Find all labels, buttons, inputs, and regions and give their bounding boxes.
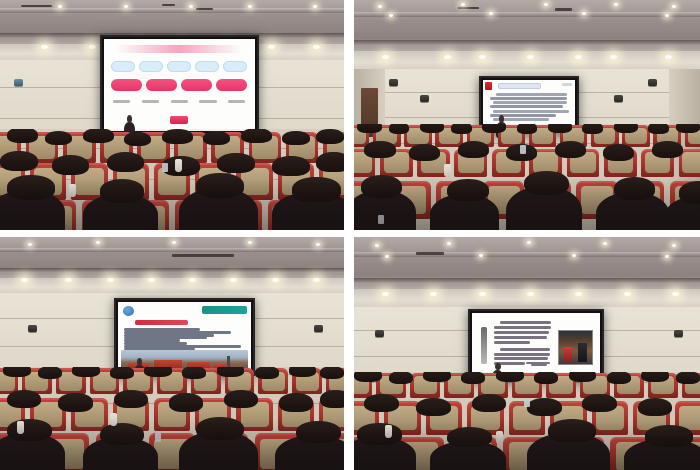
ceiling (0, 237, 344, 293)
panel-bottom-right[interactable] (354, 237, 700, 470)
lecture-hall-scene (0, 0, 344, 230)
slide-caption-row (113, 99, 246, 105)
lecture-hall-scene (354, 237, 700, 470)
water-bottle (444, 164, 451, 177)
wall-speaker-icon (375, 330, 384, 337)
water-bottle (110, 413, 117, 426)
slide-section-heading (135, 320, 188, 325)
slide-footer-word (170, 116, 188, 123)
vertical-title (481, 327, 487, 364)
panel-top-left[interactable] (0, 0, 344, 230)
wall-speaker-icon (389, 79, 398, 86)
flag-emblem-icon (485, 82, 492, 90)
inset-photo (558, 330, 593, 365)
wall-speaker-icon (674, 330, 683, 337)
phone (520, 145, 526, 154)
projection-screen (114, 298, 256, 377)
wall-speaker-icon (614, 95, 623, 102)
slide-bullet-list (124, 328, 246, 348)
lecture-hall-scene (0, 237, 344, 470)
panel-top-right[interactable] (354, 0, 700, 230)
phone (162, 163, 168, 172)
signature-line (520, 361, 552, 365)
wall-speaker-icon (648, 79, 657, 86)
slide-letter-photo (472, 313, 599, 377)
lecture-hall-scene (354, 0, 700, 230)
slide-corner-note (562, 83, 572, 85)
audience (354, 372, 700, 470)
slide-blue-pill-row (111, 61, 247, 72)
water-bottle (175, 159, 182, 172)
photo-collage (0, 0, 700, 470)
phone (524, 398, 530, 407)
wall-speaker-icon (314, 325, 323, 332)
slide-red-pill-row (111, 79, 247, 91)
slide-banner (202, 306, 247, 314)
audience (0, 367, 344, 470)
wall-speaker-icon (14, 79, 23, 86)
phone (155, 433, 161, 442)
projection-screen (468, 309, 603, 381)
slide-body-text (494, 321, 553, 365)
ceiling (354, 0, 700, 69)
slide-title-bar (116, 45, 243, 53)
water-bottle (69, 184, 76, 197)
phone (378, 215, 384, 224)
organization-logo (123, 306, 134, 316)
projection-screen (100, 35, 259, 136)
water-bottle (385, 425, 392, 438)
panel-bottom-left[interactable] (0, 237, 344, 470)
audience (354, 124, 700, 230)
slide-document (483, 80, 576, 129)
ceiling (354, 237, 700, 307)
slide-title-box (498, 83, 541, 89)
water-bottle (17, 421, 24, 434)
wall-speaker-icon (28, 325, 37, 332)
wall-speaker-icon (420, 95, 429, 102)
water-bottle (496, 431, 503, 444)
audience (0, 129, 344, 230)
